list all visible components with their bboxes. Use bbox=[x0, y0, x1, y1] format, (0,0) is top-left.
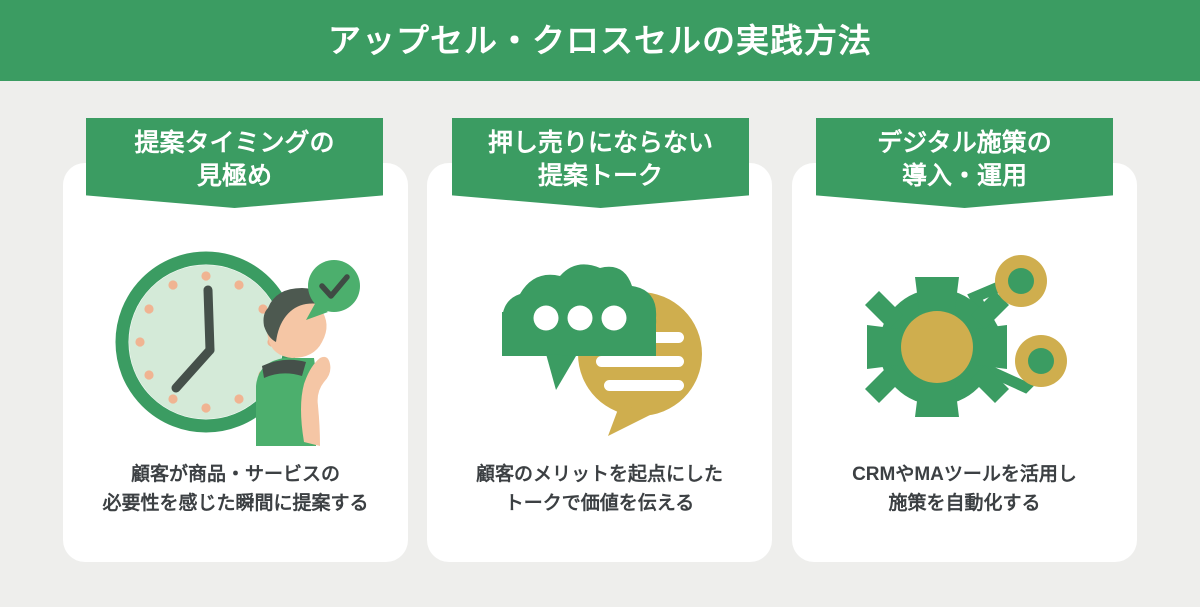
speech-bubbles-icon bbox=[480, 256, 720, 436]
card-1-icon bbox=[63, 246, 408, 446]
card-1-ribbon-label: 提案タイミングの 見極め bbox=[134, 127, 334, 193]
card-2-icon bbox=[427, 246, 772, 446]
card-3-ribbon: デジタル施策の 導入・運用 bbox=[816, 118, 1113, 208]
gear-network-icon bbox=[845, 251, 1085, 441]
card-3-caption: CRMやMAツールを活用し 施策を自動化する bbox=[792, 460, 1137, 519]
infographic-page: アップセル・クロスセルの実践方法 bbox=[0, 0, 1200, 607]
header-bar: アップセル・クロスセルの実践方法 bbox=[0, 0, 1200, 81]
card-1-caption: 顧客が商品・サービスの 必要性を感じた瞬間に提案する bbox=[63, 460, 408, 519]
card-2-ribbon: 押し売りにならない 提案トーク bbox=[452, 118, 749, 208]
card-2-caption: 顧客のメリットを起点にした トークで価値を伝える bbox=[427, 460, 772, 519]
page-title: アップセル・クロスセルの実践方法 bbox=[328, 24, 872, 57]
clock-person-thinking-icon bbox=[106, 246, 366, 446]
card-1-ribbon: 提案タイミングの 見極め bbox=[86, 118, 383, 208]
card-2-ribbon-label: 押し売りにならない 提案トーク bbox=[488, 127, 713, 193]
cards-row: 顧客が商品・サービスの 必要性を感じた瞬間に提案する 提案タイミングの 見極め bbox=[0, 81, 1200, 607]
card-3-ribbon-label: デジタル施策の 導入・運用 bbox=[877, 127, 1052, 193]
card-3-icon bbox=[792, 246, 1137, 446]
